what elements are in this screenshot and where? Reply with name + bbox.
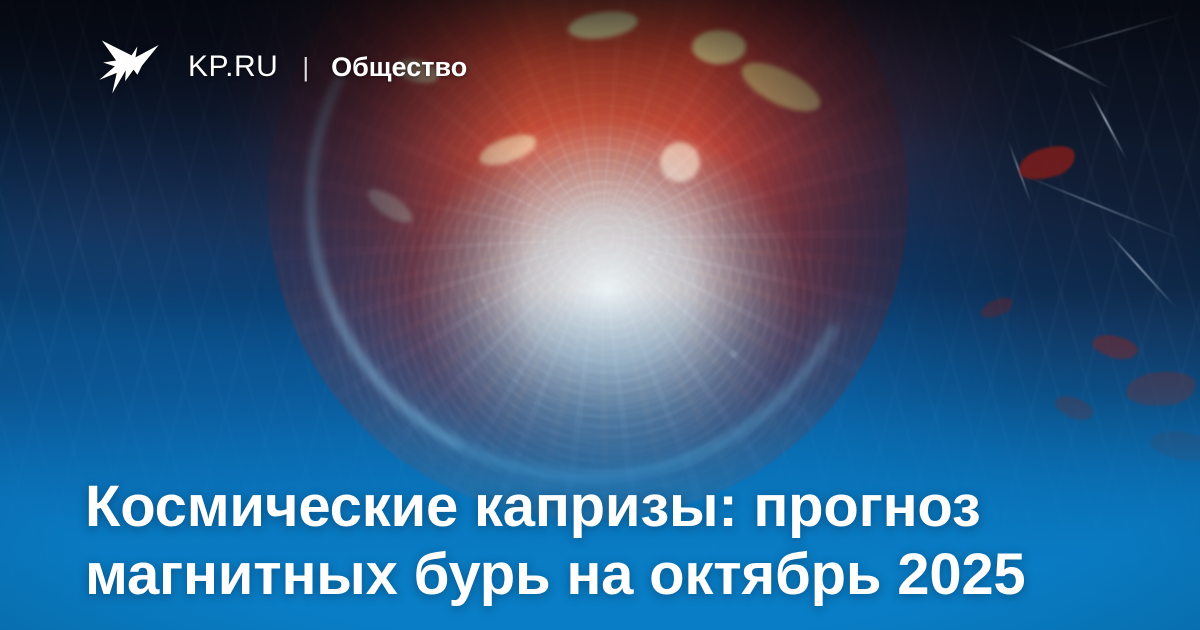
kp-swallow-bird-icon[interactable] — [96, 36, 162, 98]
headline: Космические капризы: прогноз магнитных б… — [85, 473, 1065, 609]
headline-line-2: магнитных бурь на октябрь 2025 — [85, 541, 1065, 609]
headline-line-1: Космические капризы: прогноз — [85, 473, 1065, 541]
share-card: KP.RU | Общество Космические капризы: пр… — [0, 0, 1200, 630]
header-bar: KP.RU | Общество — [96, 36, 467, 98]
rubric-label[interactable]: Общество — [331, 54, 467, 81]
header-divider: | — [302, 54, 309, 80]
brand-label[interactable]: KP.RU — [188, 52, 278, 82]
